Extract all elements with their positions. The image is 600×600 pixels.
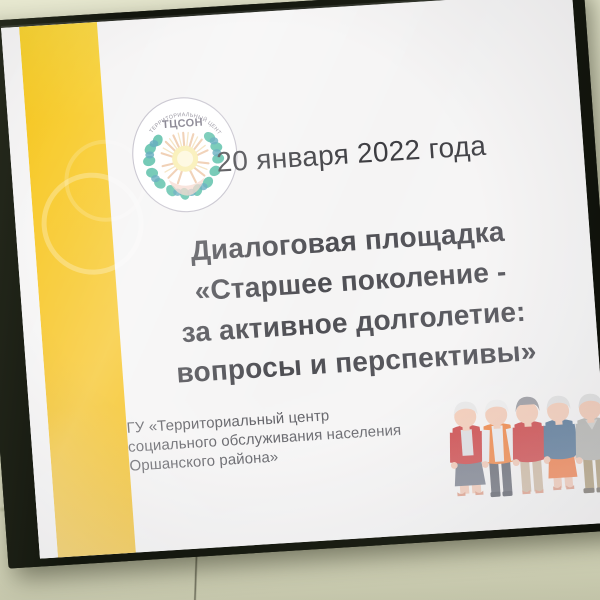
slide-date: 20 января 2022 года	[215, 126, 547, 179]
tv-screen[interactable]: ТЕРРИТОРИАЛЬНЫЙ ЦЕНТР ТЦСОН	[1, 0, 600, 559]
room-scene: ТЕРРИТОРИАЛЬНЫЙ ЦЕНТР ТЦСОН	[0, 0, 600, 600]
slide-title: Диалоговая площадка «Старшее поколение -…	[127, 208, 578, 396]
svg-text:ТЦСОН: ТЦСОН	[162, 117, 204, 132]
organization-name: ГУ «Территориальный центр социального об…	[126, 398, 460, 476]
presentation-slide: ТЕРРИТОРИАЛЬНЫЙ ЦЕНТР ТЦСОН	[1, 0, 600, 559]
elderly-people-illustration	[439, 378, 600, 514]
wall-mounted-television[interactable]: ТЕРРИТОРИАЛЬНЫЙ ЦЕНТР ТЦСОН	[0, 0, 600, 569]
